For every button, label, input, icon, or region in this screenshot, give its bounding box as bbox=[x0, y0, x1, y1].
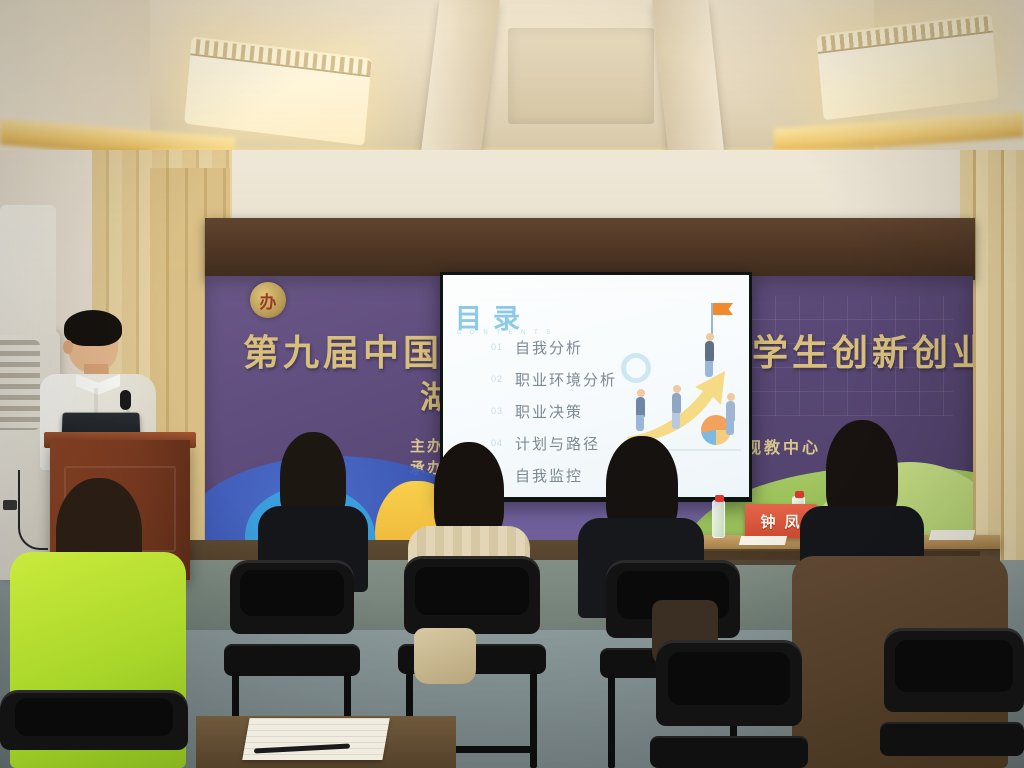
toc-label: 职业决策 bbox=[515, 401, 583, 422]
paper-sheet bbox=[739, 536, 787, 545]
ac-vent-grille bbox=[0, 340, 40, 430]
water-bottle bbox=[712, 500, 725, 538]
toc-number: 03 bbox=[491, 406, 515, 416]
chair-backrest bbox=[230, 560, 354, 634]
figure-legs bbox=[672, 413, 680, 429]
figure-legs bbox=[705, 361, 713, 377]
figure-head bbox=[637, 389, 645, 397]
chair-leg bbox=[530, 670, 537, 768]
conference-room-photo: 办 第九届中国国际“互联网+”大学生创新创业大赛 湖南省复赛 主办 承办 视教中… bbox=[0, 0, 1024, 768]
chair-backrest bbox=[884, 628, 1024, 712]
figure-torso bbox=[672, 393, 681, 415]
ceiling-panel bbox=[508, 28, 654, 124]
chair-seat bbox=[224, 644, 360, 676]
chair-backrest bbox=[404, 556, 540, 634]
paper-sheet bbox=[929, 530, 975, 540]
presenter-ear bbox=[63, 340, 73, 354]
flag-pole bbox=[711, 303, 713, 337]
notebook bbox=[242, 718, 389, 760]
presenter-hair bbox=[64, 310, 122, 346]
gear-icon bbox=[621, 353, 651, 383]
stage-header-band bbox=[205, 218, 975, 280]
figure-torso bbox=[705, 341, 714, 363]
figure-head bbox=[673, 385, 681, 393]
figure-legs bbox=[636, 415, 644, 431]
flag-icon bbox=[713, 303, 733, 315]
figure-legs bbox=[726, 419, 734, 435]
folding-chair[interactable] bbox=[880, 628, 1024, 768]
toc-number: 01 bbox=[491, 342, 515, 352]
figure-head bbox=[727, 393, 735, 401]
chair-leg bbox=[608, 674, 615, 768]
chair-seat bbox=[650, 736, 808, 768]
figure-head bbox=[706, 333, 714, 341]
nameplate-char-2: 凤 bbox=[785, 511, 802, 532]
emblem-glyph: 办 bbox=[260, 288, 277, 313]
folding-chair[interactable] bbox=[650, 640, 808, 768]
organization-emblem-icon: 办 bbox=[250, 282, 286, 318]
microphone-icon bbox=[120, 390, 131, 410]
chair-backrest bbox=[0, 690, 188, 750]
chair-backrest bbox=[656, 640, 802, 726]
toc-label: 职业环境分析 bbox=[515, 369, 617, 390]
chair-seat bbox=[880, 722, 1024, 756]
toc-number: 02 bbox=[491, 374, 515, 384]
toc-label: 自我分析 bbox=[515, 337, 583, 358]
folding-chair[interactable] bbox=[0, 690, 190, 768]
nameplate-char-1: 钟 bbox=[760, 511, 777, 532]
handbag bbox=[414, 628, 476, 684]
